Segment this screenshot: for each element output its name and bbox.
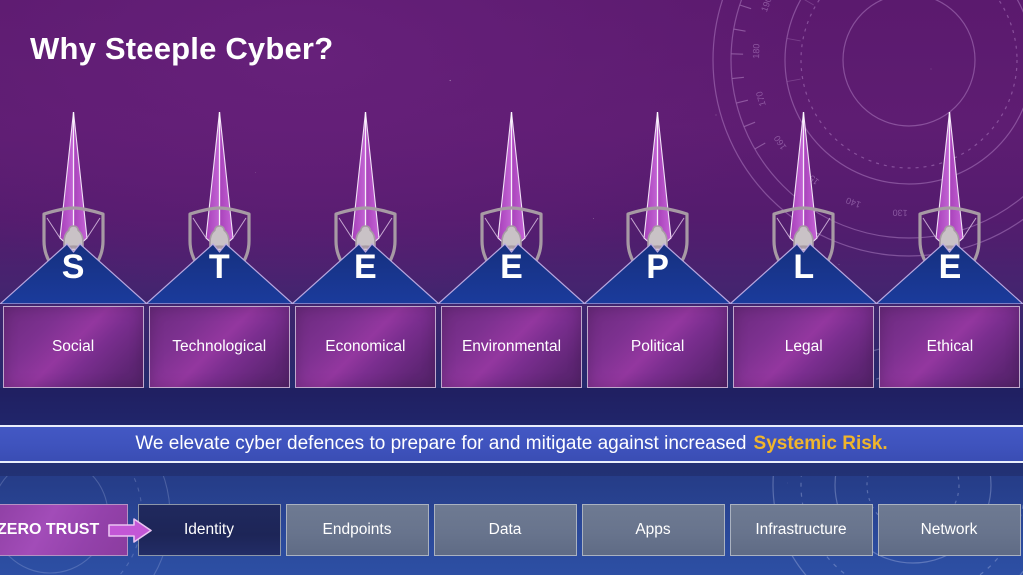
category-box-social: Social — [3, 306, 144, 388]
steeple-letter: E — [436, 250, 587, 284]
category-label: Social — [52, 338, 94, 356]
arrow-right-icon — [108, 518, 152, 543]
pillar-label: Endpoints — [323, 521, 392, 539]
category-label: Environmental — [462, 338, 561, 356]
steeple-letter: P — [582, 250, 733, 284]
category-label: Legal — [785, 338, 823, 356]
steeple-letter: L — [728, 250, 879, 284]
steeple-row: STEEPLE — [0, 108, 1023, 304]
category-box-technological: Technological — [149, 306, 290, 388]
category-row: SocialTechnologicalEconomicalEnvironment… — [0, 306, 1023, 388]
steeple-letter: S — [0, 250, 149, 284]
svg-text:170: 170 — [754, 90, 768, 107]
category-label: Economical — [325, 338, 405, 356]
category-box-economical: Economical — [295, 306, 436, 388]
pillar-label: Identity — [184, 521, 234, 539]
category-box-environmental: Environmental — [441, 306, 582, 388]
svg-text:180: 180 — [751, 43, 762, 58]
category-box-political: Political — [587, 306, 728, 388]
category-label: Ethical — [927, 338, 974, 356]
pillar-label: Data — [489, 521, 522, 539]
zero-trust-pillar-endpoints[interactable]: Endpoints — [286, 504, 429, 556]
steeple-p-4: P — [582, 108, 733, 304]
zero-trust-pillar-data[interactable]: Data — [434, 504, 577, 556]
category-box-legal: Legal — [733, 306, 874, 388]
steeple-letter: T — [144, 250, 295, 284]
zero-trust-pillar-infrastructure[interactable]: Infrastructure — [730, 504, 873, 556]
statement-text: We elevate cyber defences to prepare for… — [135, 433, 746, 455]
pillar-label: Infrastructure — [755, 521, 846, 539]
zero-trust-pillar-apps[interactable]: Apps — [582, 504, 725, 556]
steeple-l-5: L — [728, 108, 879, 304]
steeple-s-0: S — [0, 108, 149, 304]
zero-trust-pillar-identity[interactable]: Identity — [138, 504, 281, 556]
page-title: Why Steeple Cyber? — [30, 31, 333, 67]
steeple-e-2: E — [290, 108, 441, 304]
steeple-e-3: E — [436, 108, 587, 304]
statement-band: We elevate cyber defences to prepare for… — [0, 425, 1023, 463]
category-label: Technological — [172, 338, 266, 356]
statement-band-backdrop: We elevate cyber defences to prepare for… — [0, 388, 1023, 476]
zero-trust-pillar-network[interactable]: Network — [878, 504, 1021, 556]
zero-trust-row: ZERO TRUSTIdentityEndpointsDataAppsInfra… — [0, 504, 1023, 556]
pillar-label: Apps — [635, 521, 670, 539]
steeple-letter: E — [290, 250, 441, 284]
category-box-ethical: Ethical — [879, 306, 1020, 388]
steeple-e-6: E — [874, 108, 1023, 304]
pillar-label: Network — [921, 521, 978, 539]
zero-trust-label: ZERO TRUST — [0, 521, 99, 539]
steeple-letter: E — [874, 250, 1023, 284]
statement-highlight: Systemic Risk. — [754, 433, 888, 455]
category-label: Political — [631, 338, 684, 356]
steeple-t-1: T — [144, 108, 295, 304]
slide-canvas: 210 200 190 180 170 160 150 140 130 Why … — [0, 0, 1023, 575]
svg-text:190: 190 — [759, 0, 774, 13]
